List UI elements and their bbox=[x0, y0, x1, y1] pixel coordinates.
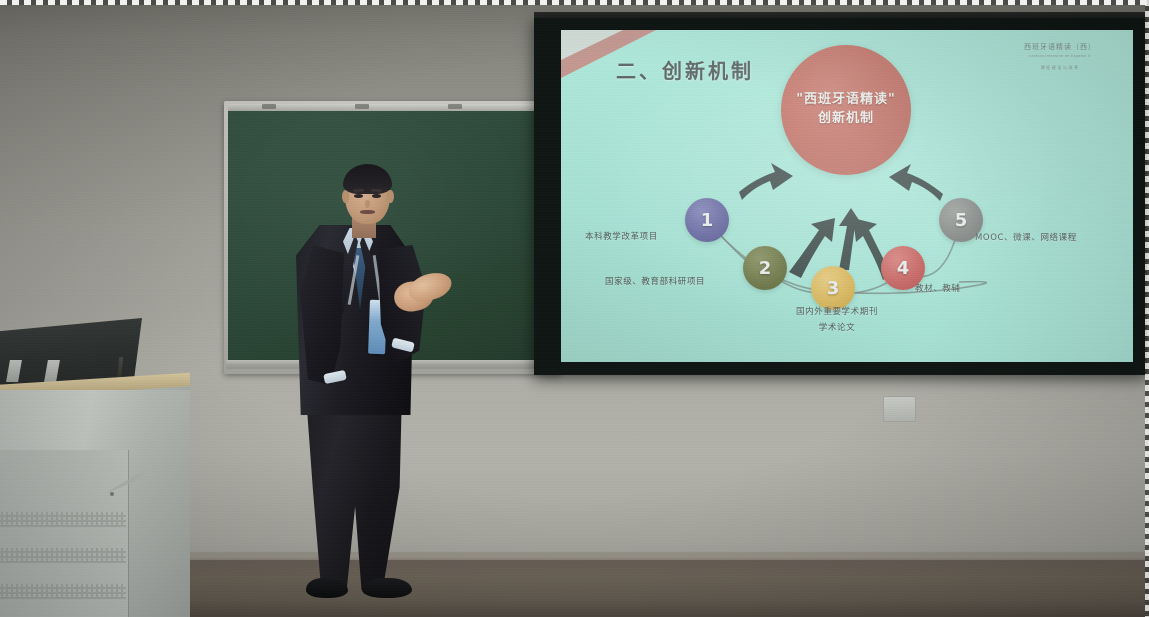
hub-line2: 创新机制 bbox=[818, 110, 874, 129]
presenter-eye-right bbox=[372, 194, 381, 198]
frame-border-top bbox=[0, 0, 1149, 5]
node-2-number: 2 bbox=[759, 258, 772, 279]
chalkboard-clip bbox=[262, 104, 276, 109]
node-4-label: 教材、教辅 bbox=[915, 283, 961, 297]
frame-border-right bbox=[1145, 0, 1149, 617]
podium-vent bbox=[0, 548, 126, 563]
node-5-number: 5 bbox=[955, 210, 968, 231]
projection-screen-surface: 二、创新机制 西班牙语精读（西） Lectura Intensiva de Es… bbox=[561, 30, 1133, 362]
chalkboard-clip bbox=[355, 104, 369, 109]
center-hub: "西班牙语精读" 创新机制 bbox=[781, 45, 911, 175]
video-frame: 二、创新机制 西班牙语精读（西） Lectura Intensiva de Es… bbox=[0, 0, 1149, 617]
node-4-number: 4 bbox=[897, 258, 910, 279]
presenter-eye-left bbox=[354, 194, 363, 198]
node-3-label: 国内外重要学术期刊 bbox=[777, 306, 897, 320]
node-2: 2 bbox=[743, 246, 787, 290]
node-2-label: 国家级、教育部科研项目 bbox=[605, 276, 705, 290]
presenter-nose bbox=[365, 200, 370, 208]
presenter-ear-right bbox=[387, 190, 394, 203]
wall-outlet bbox=[883, 396, 916, 422]
podium-lock bbox=[110, 492, 114, 496]
chalkboard-top-rail bbox=[228, 104, 557, 111]
node-3-label-line2: 学术论文 bbox=[777, 322, 897, 336]
presenter-shoe-right bbox=[362, 578, 412, 598]
node-5-label: MOOC、微课、网络课程 bbox=[975, 232, 1077, 246]
presenter-shoe-left bbox=[306, 578, 348, 598]
node-1-label: 本科教学改革项目 bbox=[585, 231, 658, 245]
presenter-mouth bbox=[360, 210, 375, 214]
node-1: 1 bbox=[685, 198, 729, 242]
node-3-number: 3 bbox=[827, 278, 840, 299]
node-3: 3 bbox=[811, 266, 855, 310]
hub-line1: "西班牙语精读" bbox=[796, 91, 896, 110]
podium-vent bbox=[0, 512, 126, 527]
podium-vent bbox=[0, 584, 126, 599]
chalkboard-clip bbox=[448, 104, 462, 109]
node-1-number: 1 bbox=[701, 210, 714, 231]
